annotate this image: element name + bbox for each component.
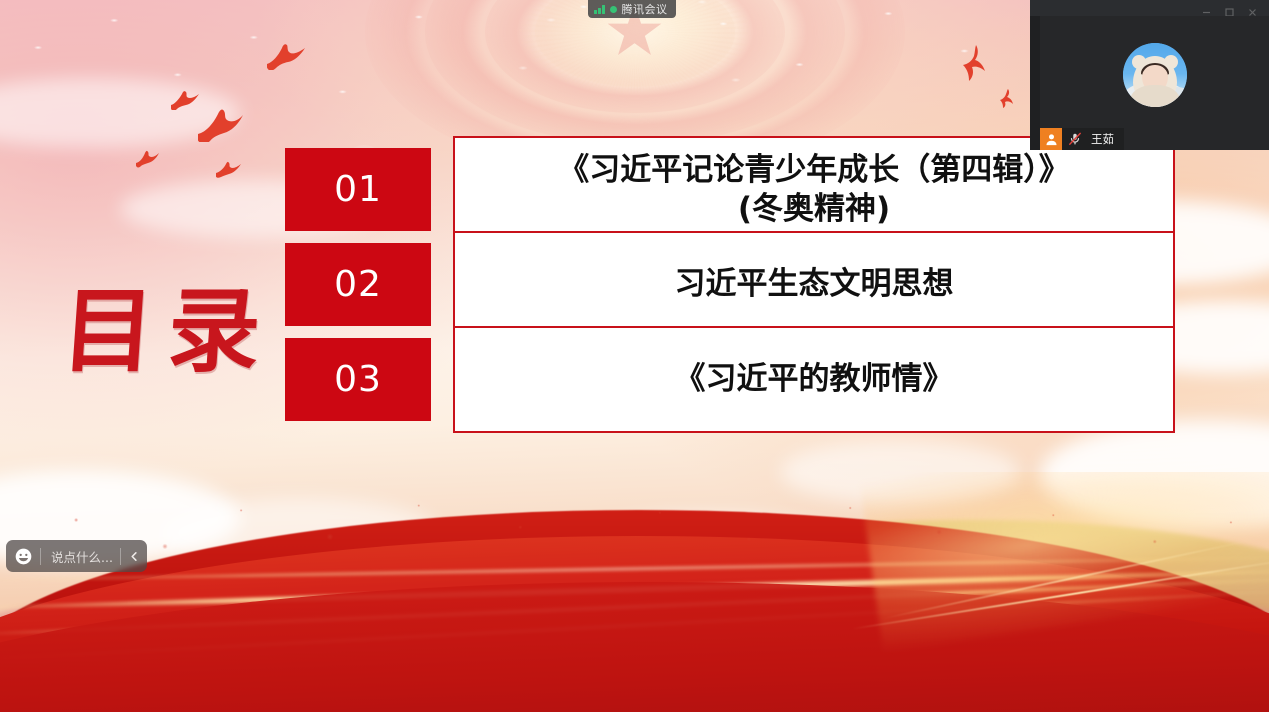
toc-item[interactable]: 02 习近平生态文明思想 [285, 243, 1175, 338]
chat-input[interactable]: 说点什么... [41, 540, 120, 572]
signal-bars-icon [594, 5, 605, 14]
toc-item[interactable]: 01 《习近平记论青少年成长（第四辑）》 (冬奥精神) [285, 148, 1175, 243]
page-title: 目录 [58, 272, 276, 390]
participant-nametag: 王茹 [1040, 128, 1124, 150]
video-panel-titlebar[interactable] [1030, 0, 1269, 16]
maximize-icon[interactable] [1225, 4, 1234, 13]
toc-item[interactable]: 03 《习近平的教师情》 [285, 338, 1175, 433]
chevron-left-icon[interactable] [121, 540, 147, 572]
status-dot-icon [610, 6, 617, 13]
toc-item-text: 习近平生态文明思想 [453, 231, 1175, 338]
avatar [1123, 43, 1187, 107]
participant-name: 王茹 [1091, 131, 1114, 147]
toc-item-line1: 《习近平记论青少年成长（第四辑）》 [558, 151, 1070, 190]
toc-item-line1: 《习近平的教师情》 [675, 360, 954, 399]
toc-number-badge: 01 [285, 148, 431, 231]
chat-input-bar[interactable]: 说点什么... [6, 540, 147, 572]
toc-item-text: 《习近平的教师情》 [453, 326, 1175, 433]
table-of-contents: 01 《习近平记论青少年成长（第四辑）》 (冬奥精神) 02 习近平生态文明思想… [285, 148, 1175, 433]
toc-item-text: 《习近平记论青少年成长（第四辑）》 (冬奥精神) [453, 136, 1175, 243]
toc-item-line1: 习近平生态文明思想 [675, 265, 954, 304]
meeting-app-name: 腾讯会议 [622, 1, 668, 17]
tencent-meeting-badge[interactable]: 腾讯会议 [588, 0, 676, 18]
emoji-smiley-icon[interactable] [6, 540, 40, 572]
person-icon [1040, 128, 1062, 150]
close-icon[interactable] [1248, 4, 1257, 13]
toc-item-line2: (冬奥精神) [558, 190, 1070, 229]
minimize-icon[interactable] [1202, 4, 1211, 13]
video-panel[interactable]: 王茹 [1030, 0, 1269, 150]
microphone-muted-icon[interactable] [1064, 128, 1086, 150]
toc-number-badge: 03 [285, 338, 431, 421]
toc-number-badge: 02 [285, 243, 431, 326]
